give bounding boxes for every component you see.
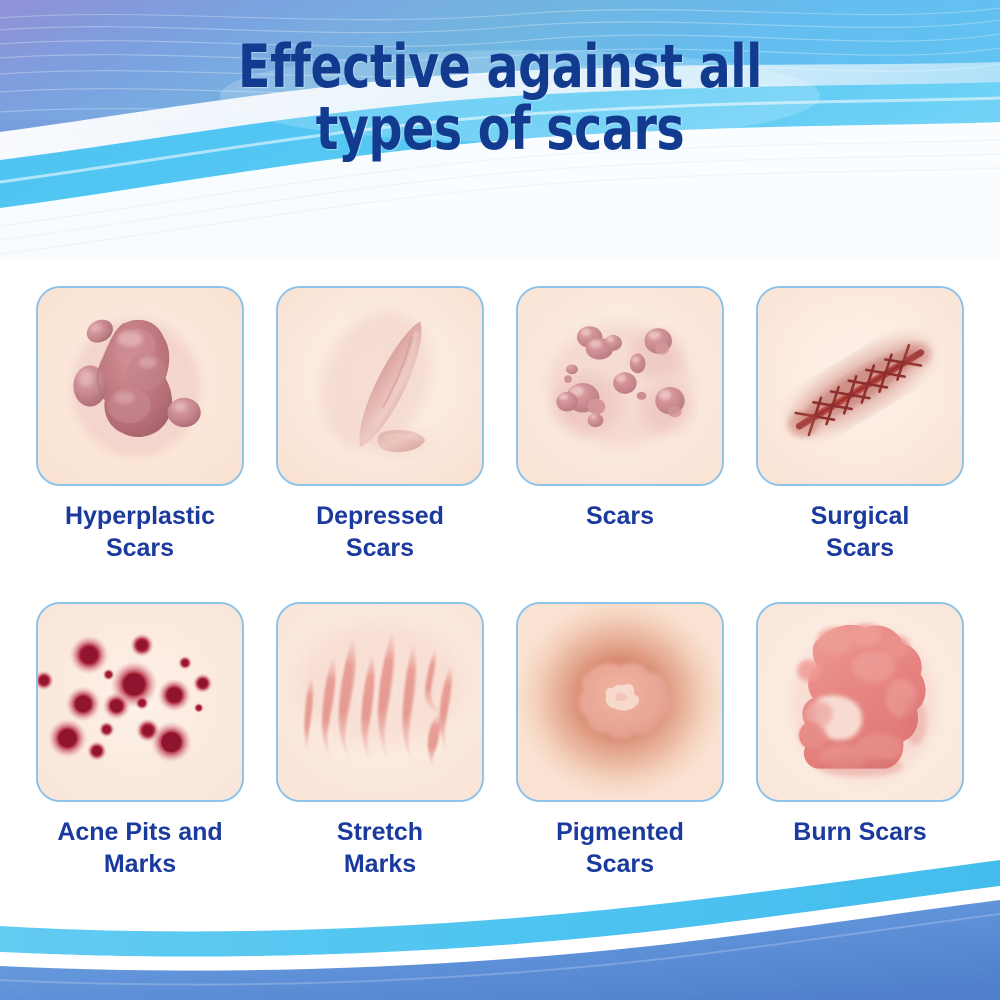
card-label-line-1: Hyperplastic xyxy=(65,502,215,530)
scar-type-grid: Hyperplastic Scars xyxy=(36,286,964,880)
card-label-line-2: Scars xyxy=(586,850,654,878)
card-label-line-1: Depressed xyxy=(316,502,444,530)
page-title: Effective against all types of scars xyxy=(0,36,1000,161)
card-label: Burn Scars xyxy=(793,816,926,848)
title-line-1: Effective against all xyxy=(60,36,940,98)
card-pigmented-scars: Pigmented Scars xyxy=(516,602,724,880)
illustration-sutured-incision xyxy=(756,286,964,486)
illustration-pigment-halo-blotch xyxy=(516,602,724,802)
footer-wave-decoration xyxy=(0,860,1000,1000)
card-depressed-scars: Depressed Scars xyxy=(276,286,484,564)
card-label-line-1: Scars xyxy=(586,502,654,530)
card-label-line-2: Scars xyxy=(106,534,174,562)
card-label: Pigmented Scars xyxy=(556,816,684,880)
card-label: Scars xyxy=(586,500,654,532)
illustration-vertical-striae xyxy=(276,602,484,802)
illustration-scattered-nodules xyxy=(516,286,724,486)
card-label-line-1: Stretch xyxy=(337,818,423,846)
illustration-acne-pits-dots xyxy=(36,602,244,802)
card-label: Acne Pits and Marks xyxy=(57,816,222,880)
card-label-line-2: Scars xyxy=(346,534,414,562)
card-label-line-2: Marks xyxy=(104,850,176,878)
card-acne-pits-and-marks: Acne Pits and Marks xyxy=(36,602,244,880)
card-surgical-scars: Surgical Scars xyxy=(756,286,964,564)
card-label-line-1: Surgical xyxy=(811,502,910,530)
illustration-large-burn-blotch xyxy=(756,602,964,802)
title-line-2: types of scars xyxy=(60,98,940,160)
card-label-line-1: Acne Pits and xyxy=(57,818,222,846)
card-scars: Scars xyxy=(516,286,724,564)
card-label-line-2: Marks xyxy=(344,850,416,878)
card-burn-scars: Burn Scars xyxy=(756,602,964,880)
card-label: Depressed Scars xyxy=(316,500,444,564)
card-label-line-1: Pigmented xyxy=(556,818,684,846)
infographic-page: Effective against all types of scars xyxy=(0,0,1000,1000)
illustration-raised-keloid-mass xyxy=(36,286,244,486)
card-label-line-2: Scars xyxy=(826,534,894,562)
card-hyperplastic-scars: Hyperplastic Scars xyxy=(36,286,244,564)
card-label: Hyperplastic Scars xyxy=(65,500,215,564)
card-stretch-marks: Stretch Marks xyxy=(276,602,484,880)
card-label: Stretch Marks xyxy=(337,816,423,880)
illustration-sunken-linear-scar xyxy=(276,286,484,486)
card-label: Surgical Scars xyxy=(811,500,910,564)
card-label-line-1: Burn Scars xyxy=(793,818,926,846)
